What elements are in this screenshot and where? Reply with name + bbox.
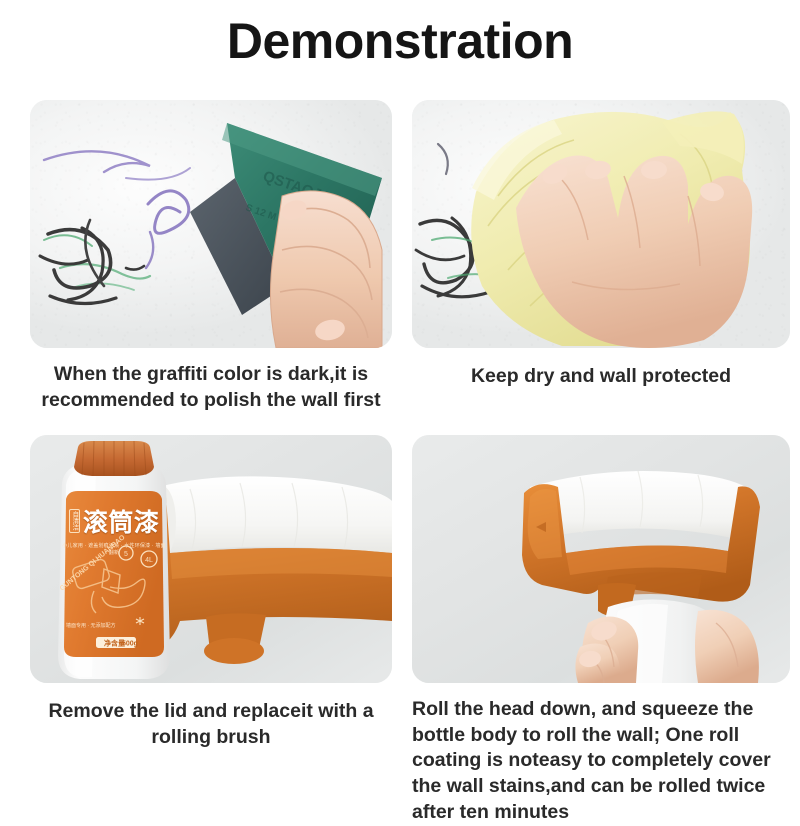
roller-on-wall-with-hand-illustration [412,435,790,683]
step-2-caption: Keep dry and wall protected [412,364,790,390]
bottle-label-subtitle: 小儿家用 · 遮盖划痕污渍 · 水性环保漆 · 墙面翻新 [60,542,168,556]
demo-step-3: GUNTONG QI HUANBAO 5 4L 净含量 500g 自清洁 滚筒漆 [30,435,392,750]
paint-bottle-illustration: GUNTONG QI HUANBAO 5 4L 净含量 500g [44,441,184,683]
svg-text:4L: 4L [145,557,153,564]
demo-step-4: Roll the head down, and squeeze the bott… [412,435,790,826]
wiping-wall-with-yellow-cloth-photo [412,100,790,348]
graffiti-and-sanding-block-illustration: QSTAOJCK S 12 M 40 [30,100,392,348]
step-1-caption: When the graffiti color is dark,it is re… [30,362,392,413]
paint-bottle: GUNTONG QI HUANBAO 5 4L 净含量 500g 自清洁 滚筒漆 [44,441,184,683]
bottle-weight-badge: 500g [122,641,138,648]
page-title: Demonstration [0,14,800,69]
bottle-label-title: 滚筒漆 [83,503,160,539]
hand-with-yellow-cloth-illustration [412,100,790,348]
bottle-label-footer: 墙面专用 · 无添加配方 [66,623,140,631]
demo-step-1: QSTAOJCK S 12 M 40 When the graffiti col… [30,100,392,413]
step-3-caption: Remove the lid and replaceit with a roll… [30,699,392,750]
step-4-caption: Roll the head down, and squeeze the bott… [412,697,790,826]
demo-step-2: Keep dry and wall protected [412,100,790,390]
bottle-label-badge: 自清洁 [69,509,80,533]
sanding-block-on-graffiti-wall-photo: QSTAOJCK S 12 M 40 [30,100,392,348]
bottle-and-roller-brush-photo: GUNTONG QI HUANBAO 5 4L 净含量 500g 自清洁 滚筒漆 [30,435,392,683]
rolling-paint-on-wall-photo [412,435,790,683]
